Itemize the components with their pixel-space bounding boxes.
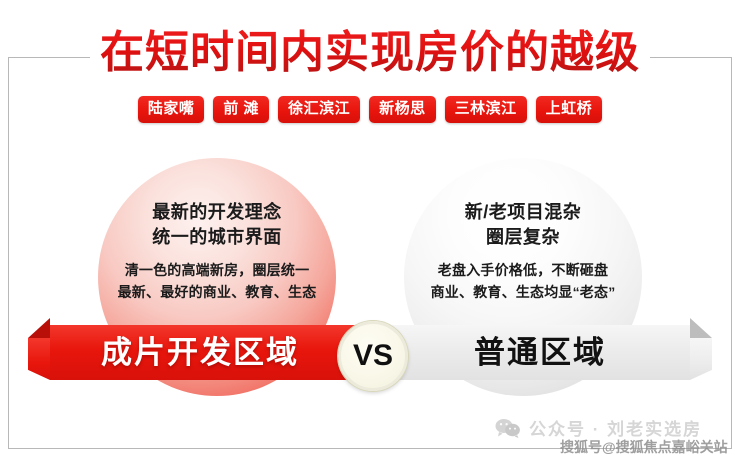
right-banner-label: 普通区域: [390, 325, 690, 380]
left-ribbon-fold-icon: [28, 318, 50, 338]
right-bubble-heading-line2: 圈层复杂: [378, 225, 668, 250]
right-bubble-content: 新/老项目混杂 圈层复杂 老盘入手价格低，不断砸盘 商业、教育、生态均显“老态”: [378, 158, 668, 303]
sohu-watermark-text: 搜狐号@搜狐焦点嘉峪关站: [560, 437, 728, 457]
wechat-icon: [495, 418, 521, 438]
left-bubble-body-line1: 清一色的高端新房，圈层统一: [72, 259, 362, 281]
left-bubble-heading: 最新的开发理念 统一的城市界面: [72, 200, 362, 250]
right-ribbon-tail: [690, 338, 712, 380]
right-bubble-body: 老盘入手价格低，不断砸盘 商业、教育、生态均显“老态”: [378, 259, 668, 303]
right-bubble-heading: 新/老项目混杂 圈层复杂: [378, 200, 668, 250]
left-bubble-content: 最新的开发理念 统一的城市界面 清一色的高端新房，圈层统一 最新、最好的商业、教…: [72, 158, 362, 303]
district-tag-xuhuibinjiang[interactable]: 徐汇滨江: [278, 96, 360, 123]
vs-badge: VS: [338, 321, 408, 391]
left-bubble-heading-line2: 统一的城市界面: [72, 225, 362, 250]
poster-canvas: 在短时间内实现房价的越级 陆家嘴 前 滩 徐汇滨江 新杨思 三林滨江 上虹桥 最…: [0, 0, 740, 465]
district-tag-xinyangsi[interactable]: 新杨思: [369, 96, 436, 123]
compare-banner: 成片开发区域 普通区域 VS: [0, 325, 740, 387]
district-tag-row: 陆家嘴 前 滩 徐汇滨江 新杨思 三林滨江 上虹桥: [0, 96, 740, 123]
district-tag-shanghongqiao[interactable]: 上虹桥: [536, 96, 603, 123]
left-bubble-heading-line1: 最新的开发理念: [72, 200, 362, 225]
left-banner-label: 成片开发区域: [50, 325, 350, 380]
district-tag-sanlinbinjiang[interactable]: 三林滨江: [445, 96, 527, 123]
left-bubble-body-line2: 最新、最好的商业、教育、生态: [72, 281, 362, 303]
right-bubble-heading-line1: 新/老项目混杂: [378, 200, 668, 225]
right-ribbon-fold-icon: [690, 318, 712, 338]
right-bubble-body-line2: 商业、教育、生态均显“老态”: [378, 281, 668, 303]
left-ribbon-tail: [28, 338, 50, 380]
district-tag-lujiazui[interactable]: 陆家嘴: [138, 96, 205, 123]
left-bubble-body: 清一色的高端新房，圈层统一 最新、最好的商业、教育、生态: [72, 259, 362, 303]
page-title: 在短时间内实现房价的越级: [0, 24, 740, 82]
right-bubble-body-line1: 老盘入手价格低，不断砸盘: [378, 259, 668, 281]
district-tag-qiantan[interactable]: 前 滩: [213, 96, 269, 123]
